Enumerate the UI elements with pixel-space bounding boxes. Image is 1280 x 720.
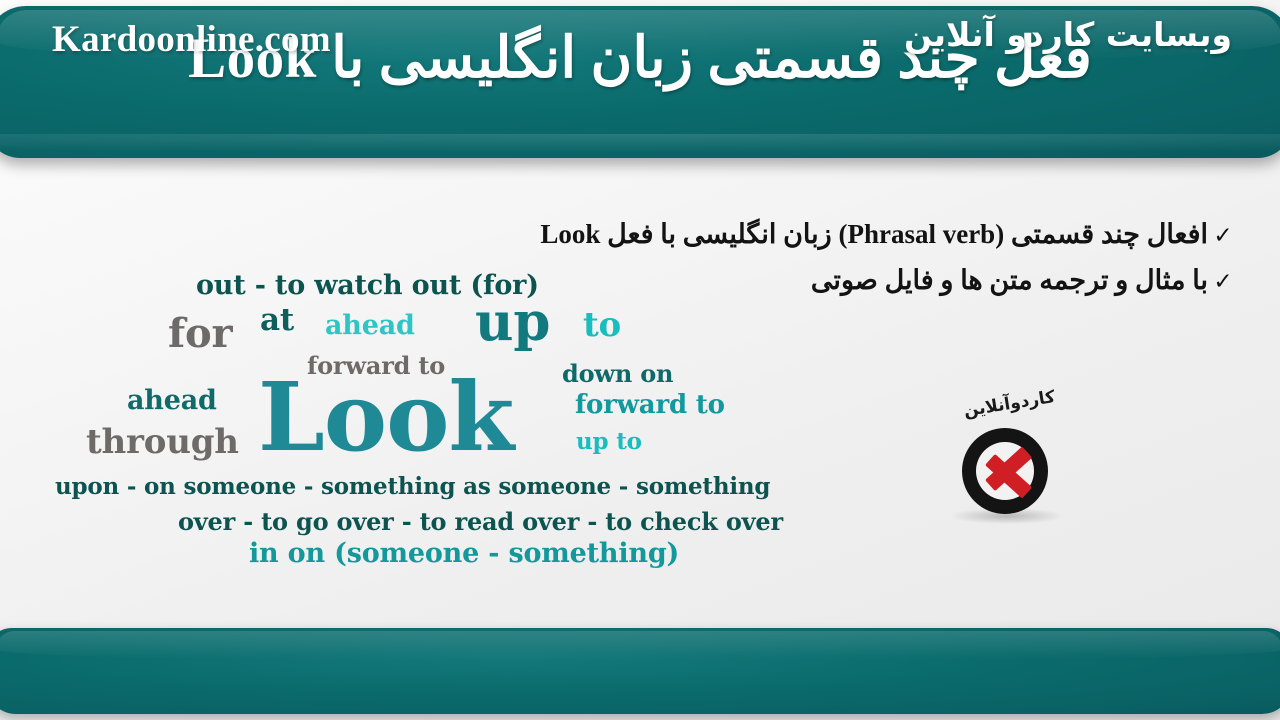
footer-banner [0, 628, 1280, 714]
bullet-text: افعال چند قسمتی (Phrasal verb) زبان انگل… [540, 214, 1208, 256]
cloud-word-for: for [168, 314, 232, 354]
word-cloud: out - to watch out (for) for at ahead up… [0, 272, 830, 572]
logo-chevron-icon [986, 434, 1058, 510]
cloud-word-through: through [86, 425, 239, 459]
cloud-word-to: to [583, 308, 621, 342]
brand-logo: کاردوآنلاین [935, 388, 1085, 538]
footer-site-name-fa: وبسایت کاردو آنلاین [904, 15, 1232, 54]
cloud-word-up: up [475, 296, 550, 349]
list-item: ✓ افعال چند قسمتی (Phrasal verb) زبان ان… [540, 214, 1238, 256]
cloud-word-over-line: over - to go over - to read over - to ch… [178, 510, 783, 534]
cloud-word-ahead-top: ahead [325, 312, 415, 339]
cloud-word-up-to: up to [576, 430, 642, 453]
slide-root: فعل چند قسمتی زبان انگلیسی با Look ✓ افع… [0, 0, 1280, 720]
check-icon: ✓ [1208, 269, 1238, 295]
logo-shadow [951, 508, 1063, 524]
logo-mark-icon [962, 428, 1048, 514]
cloud-word-forward-to-teal: forward to [575, 392, 725, 418]
footer-gloss [0, 631, 1280, 661]
check-icon: ✓ [1208, 223, 1238, 249]
bullet-text: با مثال و ترجمه متن ها و فایل صوتی [811, 260, 1208, 302]
cloud-word-upon-line: upon - on someone - something as someone… [55, 475, 770, 498]
cloud-word-in-on-line: in on (someone - something) [249, 540, 679, 567]
cloud-word-look: Look [258, 370, 513, 465]
footer-site-url: Kardoonline.com [52, 18, 331, 61]
cloud-word-at: at [260, 305, 294, 336]
cloud-word-ahead-left: ahead [127, 387, 217, 414]
cloud-word-down-on: down on [562, 362, 673, 386]
